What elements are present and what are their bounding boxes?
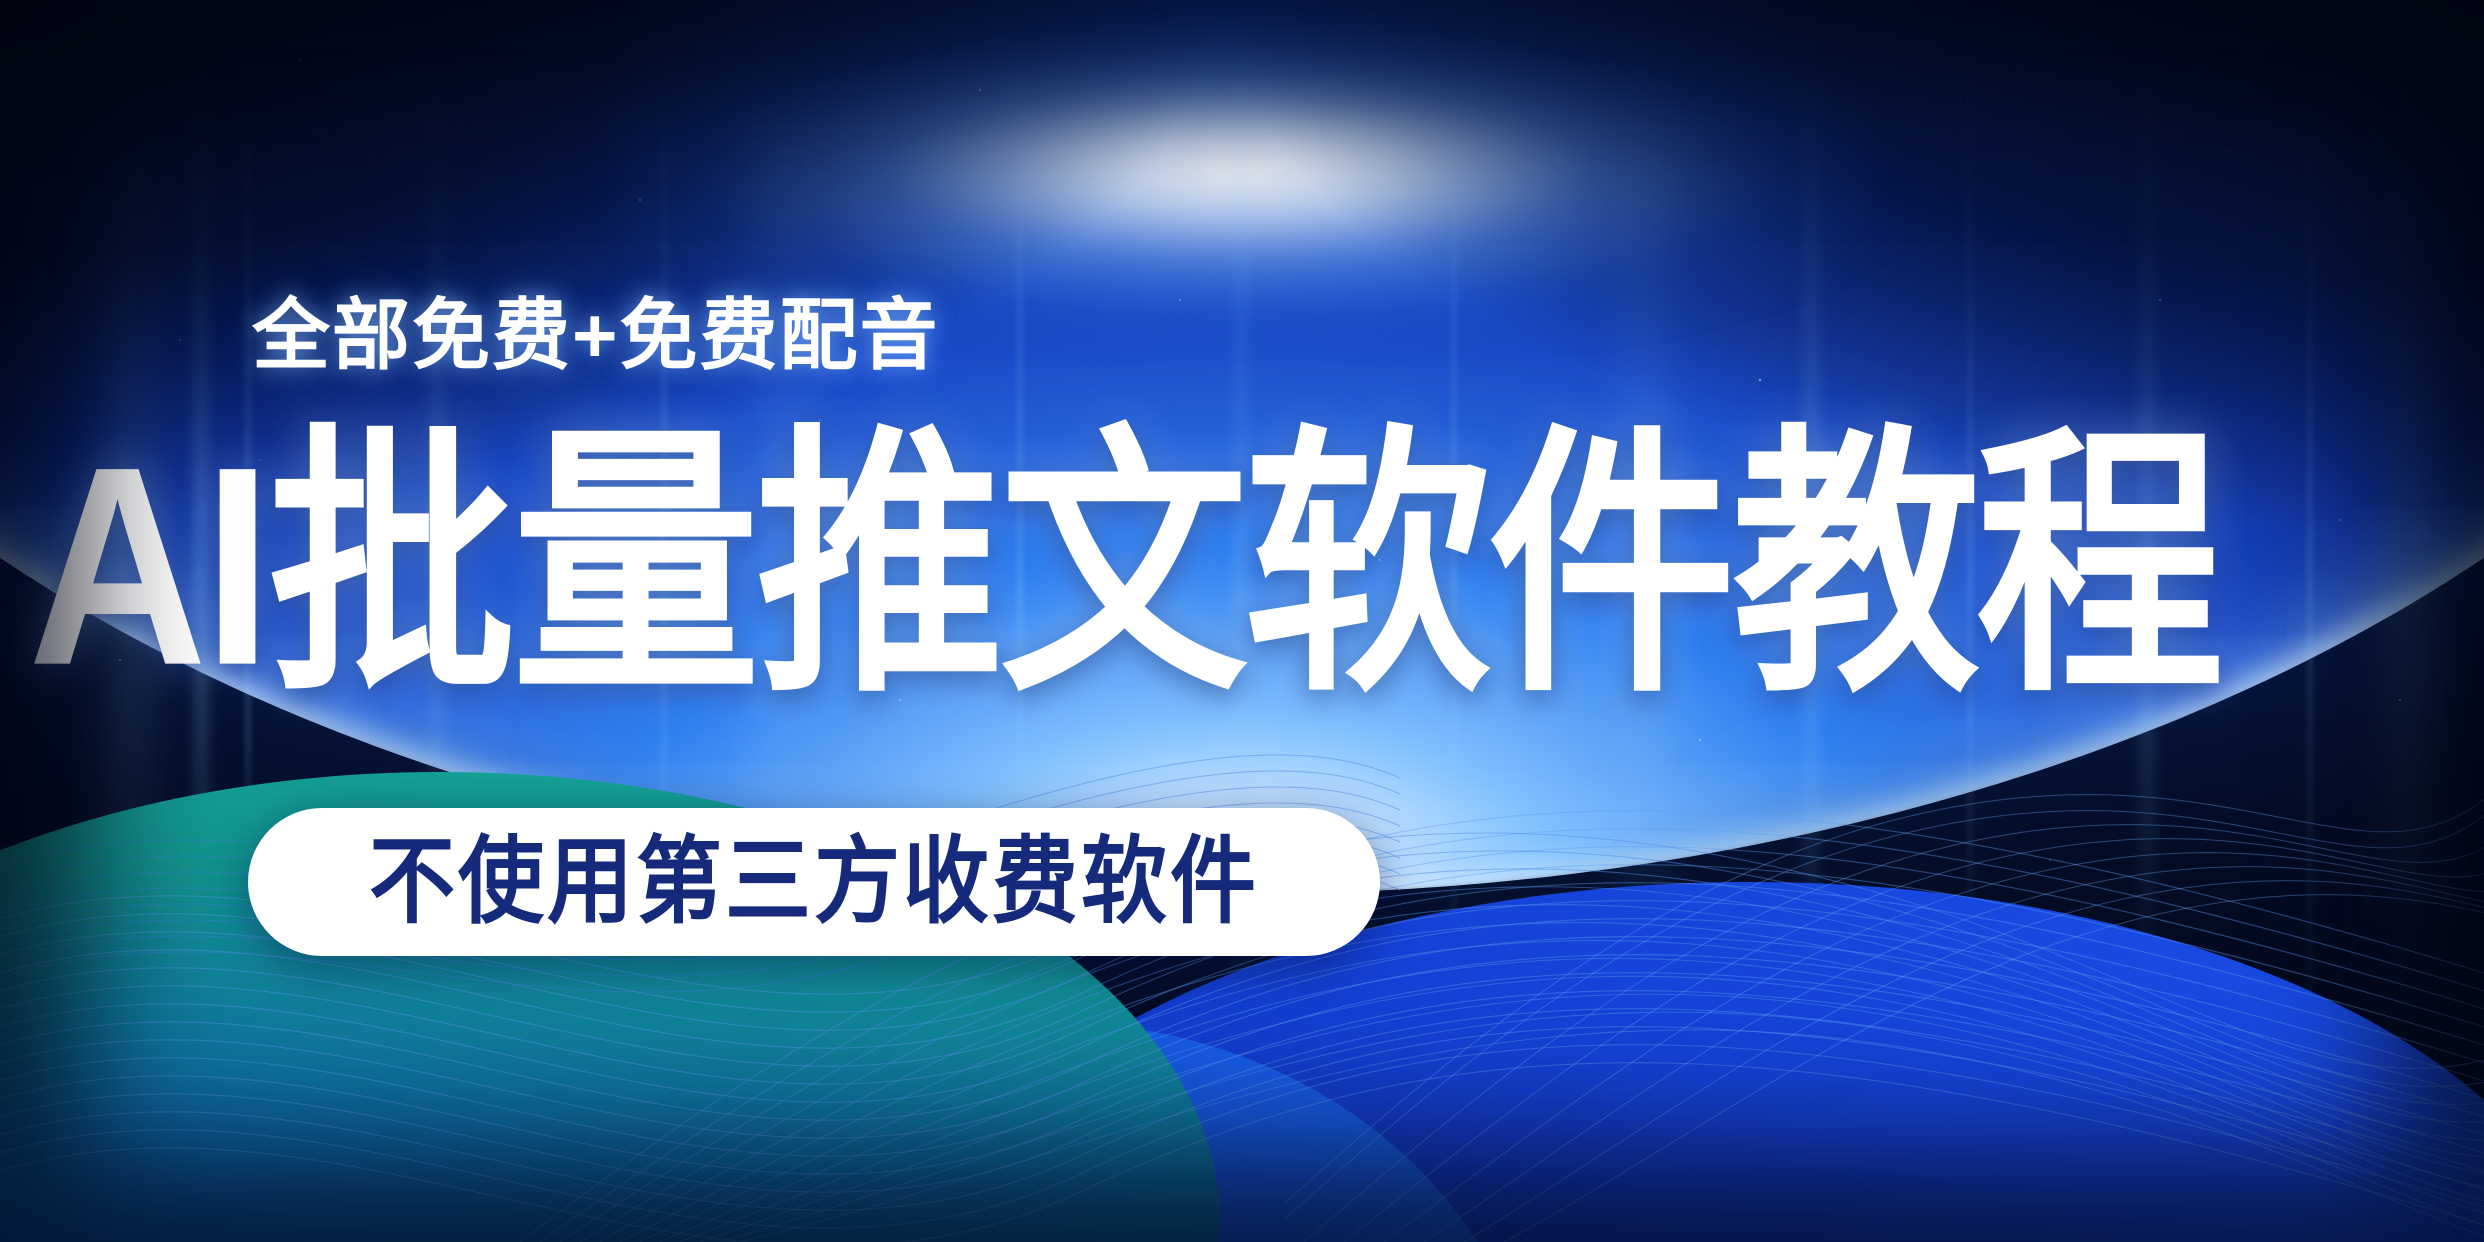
feature-badge: 不使用第三方收费软件: [248, 808, 1380, 956]
poster-content: 全部免费+免费配音 AI批量推文软件教程 不使用第三方收费软件: [0, 0, 2484, 1242]
feature-badge-label: 不使用第三方收费软件: [369, 835, 1259, 930]
poster-subtitle: 全部免费+免费配音: [252, 296, 940, 374]
poster-title: AI批量推文软件教程: [28, 422, 2458, 710]
poster-canvas: 全部免费+免费配音 AI批量推文软件教程 不使用第三方收费软件: [0, 0, 2484, 1242]
